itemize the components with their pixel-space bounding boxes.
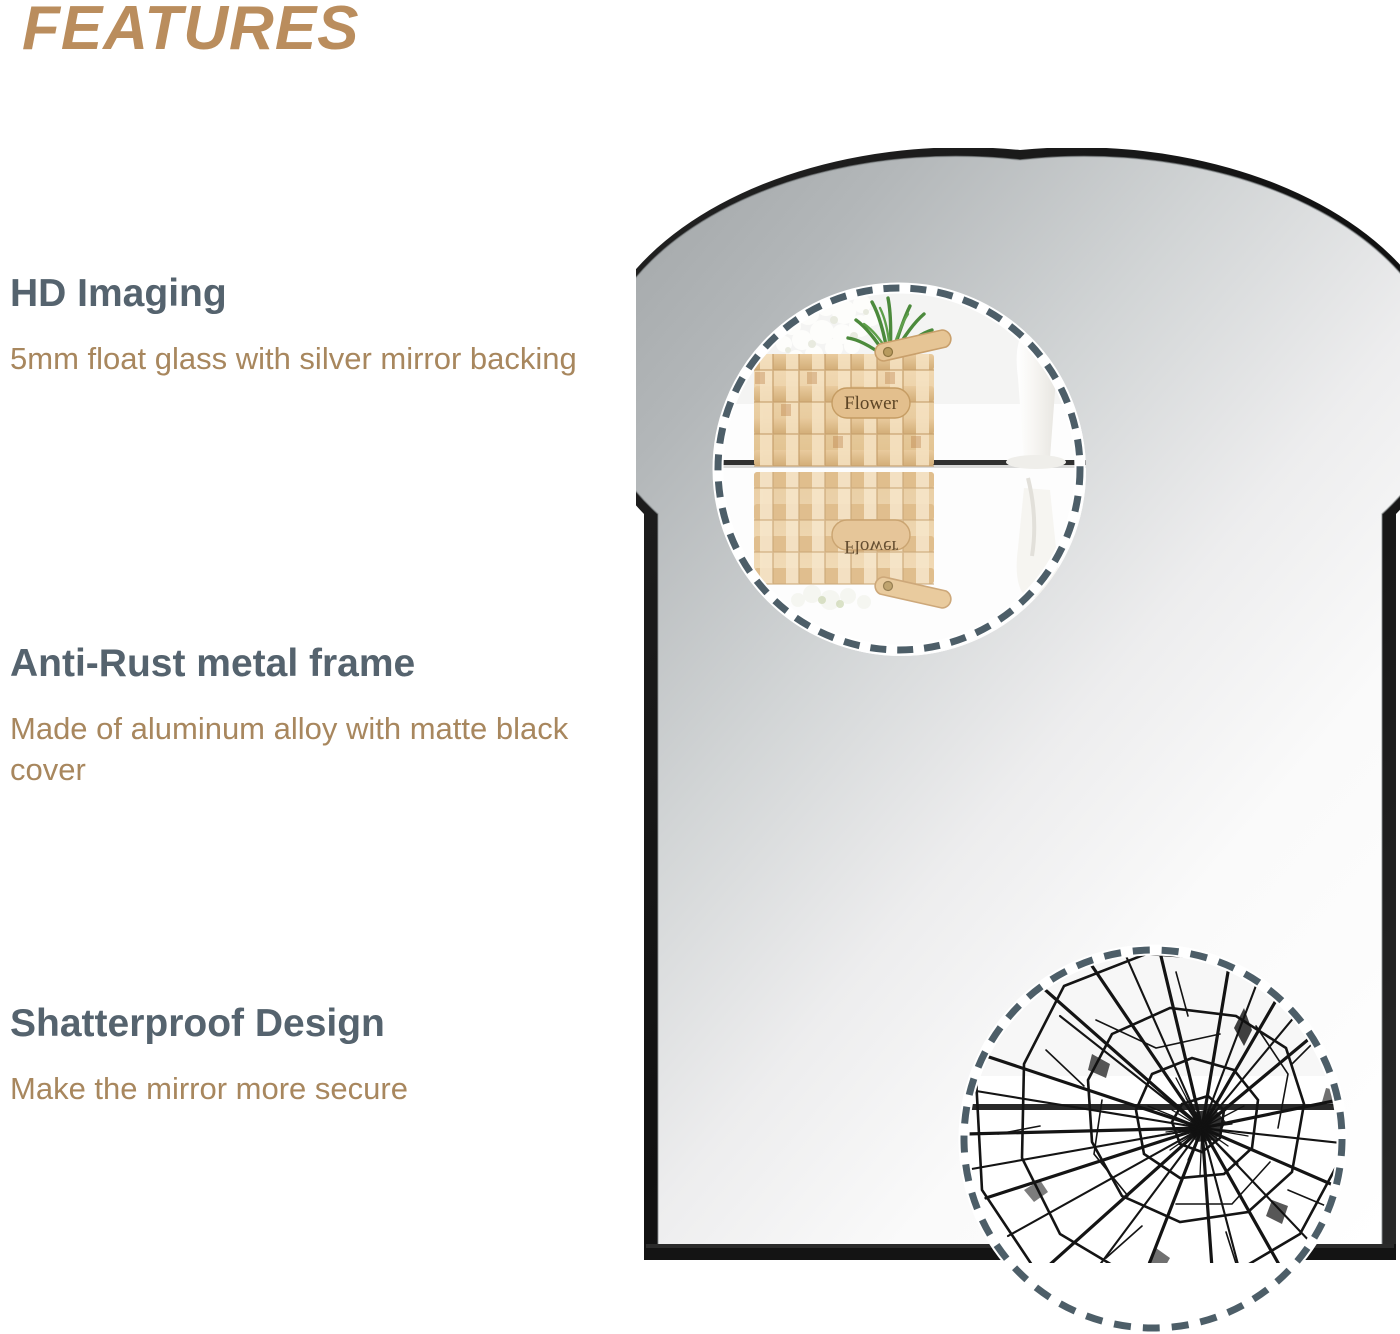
callout-circle-hd-imaging xyxy=(712,282,1086,656)
callout-circle-shatterproof xyxy=(958,944,1348,1334)
feature-item-hd-imaging: HD Imaging 5mm float glass with silver m… xyxy=(10,272,622,380)
feature-description: Make the mirror more secure xyxy=(10,1069,590,1110)
feature-heading: Shatterproof Design xyxy=(10,1002,622,1047)
feature-heading: HD Imaging xyxy=(10,272,622,317)
feature-item-shatterproof-design: Shatterproof Design Make the mirror more… xyxy=(10,1002,622,1110)
feature-description: 5mm float glass with silver mirror backi… xyxy=(10,339,590,380)
feature-list: HD Imaging 5mm float glass with silver m… xyxy=(0,0,640,1331)
feature-item-anti-rust-metal-frame: Anti-Rust metal frame Made of aluminum a… xyxy=(10,642,622,791)
feature-heading: Anti-Rust metal frame xyxy=(10,642,622,687)
feature-description: Made of aluminum alloy with matte black … xyxy=(10,709,590,791)
